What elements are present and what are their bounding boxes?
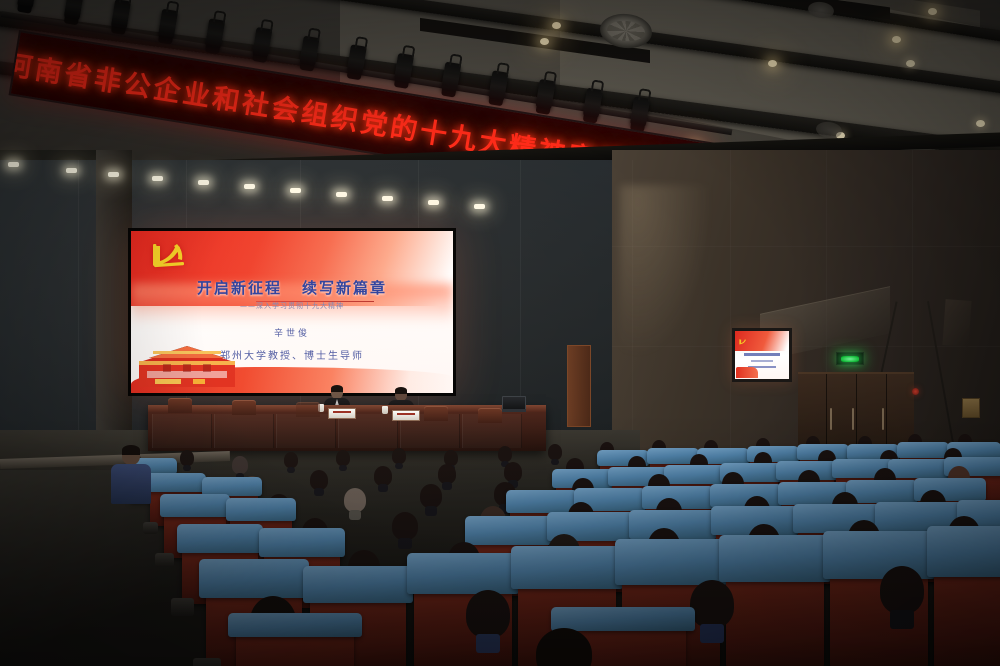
- audience-member: [438, 464, 456, 484]
- stage-strip-light: [336, 192, 347, 197]
- audience-member: [392, 448, 406, 464]
- slide-title-right: 续写新篇章: [302, 279, 387, 297]
- water-cup: [382, 406, 388, 414]
- ceiling-downlight: [928, 8, 937, 15]
- audience-member: [336, 450, 350, 466]
- stage-strip-light: [290, 188, 301, 193]
- audience-member: [284, 452, 298, 468]
- stage-strip-light: [198, 180, 209, 185]
- slide-title-left: 开启新征程: [197, 279, 282, 297]
- wall-emergency-light: [912, 388, 919, 395]
- stage-chair: [232, 400, 256, 415]
- ceiling-downlight: [892, 36, 901, 43]
- auditorium-photo: 河南省非公企业和社会组织党的十九大精神宣讲报告会: [0, 0, 1000, 666]
- ceiling-downlight: [906, 60, 915, 67]
- audience-member: [344, 488, 366, 512]
- audience-member: [180, 450, 194, 466]
- stage-spotlight: [17, 0, 38, 10]
- wall-mounted-monitor: [732, 328, 792, 382]
- auditorium-seat: [726, 548, 824, 666]
- stage-spotlight: [158, 9, 179, 41]
- slide-title: 开启新征程续写新篇章: [131, 277, 453, 298]
- stage-strip-light: [382, 196, 393, 201]
- wall-speaker: [942, 299, 971, 347]
- stage-chair: [296, 402, 320, 417]
- audience-member: [310, 470, 328, 490]
- stage-strip-light: [152, 176, 163, 181]
- stage-strip-light: [244, 184, 255, 189]
- audience-member: [548, 444, 562, 460]
- stage-chair: [424, 406, 448, 421]
- stage-spotlight: [110, 0, 131, 31]
- stage-chair: [168, 398, 192, 413]
- party-emblem-icon: [147, 239, 193, 273]
- wall-signage-plate: [962, 398, 980, 418]
- stage-strip-light: [108, 172, 119, 177]
- audience-member: [420, 484, 442, 508]
- exit-sign: [836, 352, 864, 365]
- stage-strip-light: [66, 168, 77, 173]
- audience-member: [536, 628, 592, 666]
- audience-member: [392, 512, 418, 540]
- slide-content: 开启新征程续写新篇章 ——深入学习贯彻十九大精神 辛世俊 郑州大学教授、博士生导…: [131, 231, 453, 393]
- stage-spotlight: [630, 96, 651, 128]
- audience-member: [374, 466, 392, 486]
- audience-member: [880, 566, 924, 614]
- audience-member-foreground: [108, 446, 154, 506]
- stage-strip-light: [8, 162, 19, 167]
- name-placard: [392, 410, 420, 421]
- audience-member: [504, 462, 522, 482]
- stage-chair: [478, 408, 502, 423]
- audience-member: [466, 590, 510, 638]
- wall-light-wash: [620, 185, 710, 355]
- projection-screen: 开启新征程续写新篇章 ——深入学习贯彻十九大精神 辛世俊 郑州大学教授、博士生导…: [128, 228, 456, 396]
- ceiling-downlight: [976, 120, 985, 127]
- ceiling-downlight: [768, 60, 777, 67]
- stage-spotlight: [63, 0, 84, 22]
- audience-member: [690, 580, 734, 628]
- monitor-emblem-icon: [738, 333, 749, 342]
- auditorium-seat: [236, 620, 354, 666]
- audience-member: [498, 446, 512, 462]
- stage-strip-light: [428, 200, 439, 205]
- name-placard: [328, 408, 356, 419]
- stage-strip-light: [474, 204, 485, 209]
- ceiling-downlight: [540, 38, 549, 45]
- stage-spotlight: [205, 18, 226, 50]
- tiananmen-icon: [133, 337, 241, 391]
- ceiling-downlight: [552, 22, 561, 29]
- stage-side-door: [567, 345, 591, 427]
- audience-member: [232, 456, 248, 474]
- auditorium-seat: [934, 540, 1000, 666]
- stage-spotlight: [582, 88, 603, 120]
- laptop: [500, 396, 526, 412]
- slide-subtitle: ——深入学习贯彻十九大精神: [131, 301, 453, 311]
